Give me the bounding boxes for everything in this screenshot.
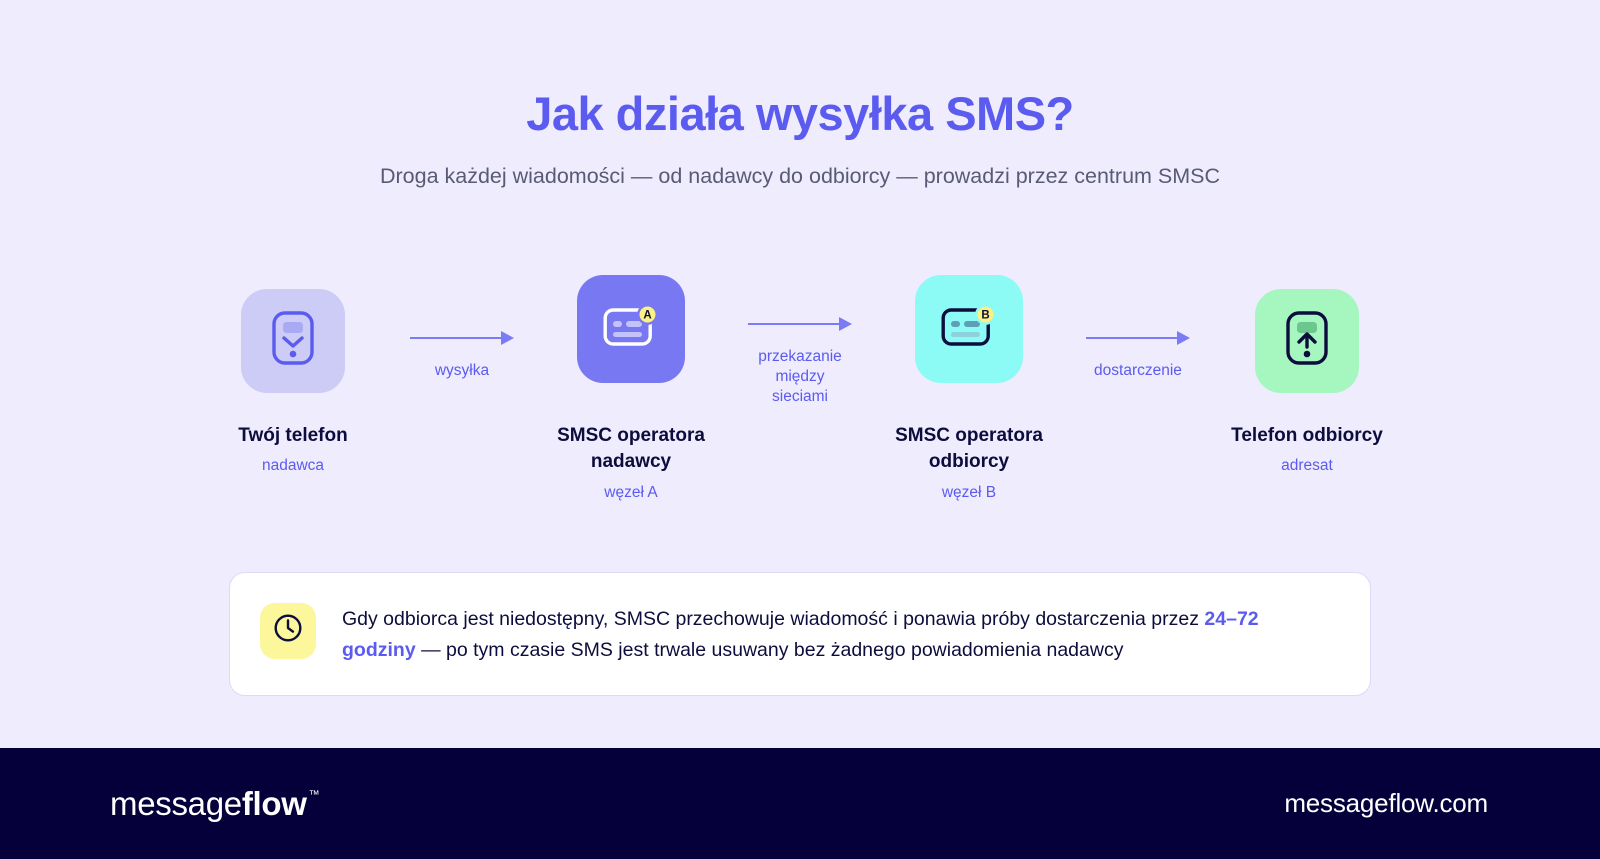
flow-arrow-interconnect: przekazanie między sieciami bbox=[724, 267, 876, 408]
retention-note-text: Gdy odbiorca jest niedostępny, SMSC prze… bbox=[342, 601, 1336, 667]
node-badge-a: A bbox=[643, 310, 651, 322]
note-text-part2: — po tym czasie SMS jest trwale usuwany … bbox=[416, 639, 1124, 661]
note-text-part1: Gdy odbiorca jest niedostępny, SMSC prze… bbox=[342, 608, 1204, 630]
arrow-right-icon bbox=[748, 313, 852, 335]
phone-incoming-message-icon bbox=[272, 311, 314, 370]
flow-node-your-phone: Twój telefon nadawca bbox=[200, 267, 386, 476]
infographic-page: Jak działa wysyłka SMS? Droga każdej wia… bbox=[0, 0, 1600, 859]
node-label-smsc-sender: SMSC operatora nadawcy bbox=[538, 423, 724, 476]
page-title: Jak działa wysyłka SMS? bbox=[0, 88, 1600, 141]
footer: messageflow™ messageflow.com bbox=[0, 748, 1600, 859]
flow-node-smsc-recipient: B SMSC operatora odbiorcy węzeł B bbox=[876, 267, 1062, 502]
node-label-recipient-phone: Telefon odbiorcy bbox=[1231, 423, 1383, 450]
phone-outgoing-message-icon bbox=[1286, 311, 1328, 370]
node-tile-smsc-recipient: B bbox=[915, 275, 1023, 383]
arrow-label-deliver: dostarczenie bbox=[1094, 361, 1182, 381]
arrow-right-icon bbox=[410, 327, 514, 349]
note-section: Gdy odbiorca jest niedostępny, SMSC prze… bbox=[0, 572, 1600, 696]
node-sub-smsc-sender: węzeł A bbox=[604, 484, 657, 502]
note-icon-badge bbox=[260, 603, 316, 659]
page-subtitle: Droga każdej wiadomości — od nadawcy do … bbox=[0, 163, 1600, 191]
trademark-icon: ™ bbox=[309, 789, 320, 801]
flow-node-smsc-sender: A SMSC operatora nadawcy węzeł A bbox=[538, 267, 724, 502]
arrow-right-icon bbox=[1086, 327, 1190, 349]
node-label-your-phone: Twój telefon bbox=[238, 423, 347, 450]
messageflow-logo[interactable]: messageflow™ bbox=[110, 785, 319, 823]
logo-text-flow: flow bbox=[242, 785, 307, 823]
node-tile-recipient-phone bbox=[1255, 289, 1359, 393]
header: Jak działa wysyłka SMS? Droga każdej wia… bbox=[0, 0, 1600, 191]
arrow-label-interconnect: przekazanie między sieciami bbox=[758, 347, 842, 408]
sms-flow-diagram: Twój telefon nadawca wysyłka A bbox=[0, 267, 1600, 502]
server-card-icon: A bbox=[603, 304, 659, 353]
node-tile-smsc-sender: A bbox=[577, 275, 685, 383]
flow-node-recipient-phone: Telefon odbiorcy adresat bbox=[1214, 267, 1400, 476]
flow-arrow-deliver: dostarczenie bbox=[1062, 267, 1214, 381]
server-card-icon: B bbox=[941, 304, 997, 353]
node-label-smsc-recipient: SMSC operatora odbiorcy bbox=[876, 423, 1062, 476]
retention-note-box: Gdy odbiorca jest niedostępny, SMSC prze… bbox=[229, 572, 1371, 696]
node-tile-your-phone bbox=[241, 289, 345, 393]
arrow-label-send: wysyłka bbox=[435, 361, 489, 381]
footer-website-url[interactable]: messageflow.com bbox=[1284, 788, 1488, 819]
logo-text-message: message bbox=[110, 785, 242, 823]
node-badge-b: B bbox=[981, 310, 989, 322]
clock-icon bbox=[273, 613, 303, 648]
node-sub-your-phone: nadawca bbox=[262, 457, 324, 475]
node-sub-recipient-phone: adresat bbox=[1281, 457, 1333, 475]
flow-arrow-send: wysyłka bbox=[386, 267, 538, 381]
node-sub-smsc-recipient: węzeł B bbox=[942, 484, 996, 502]
